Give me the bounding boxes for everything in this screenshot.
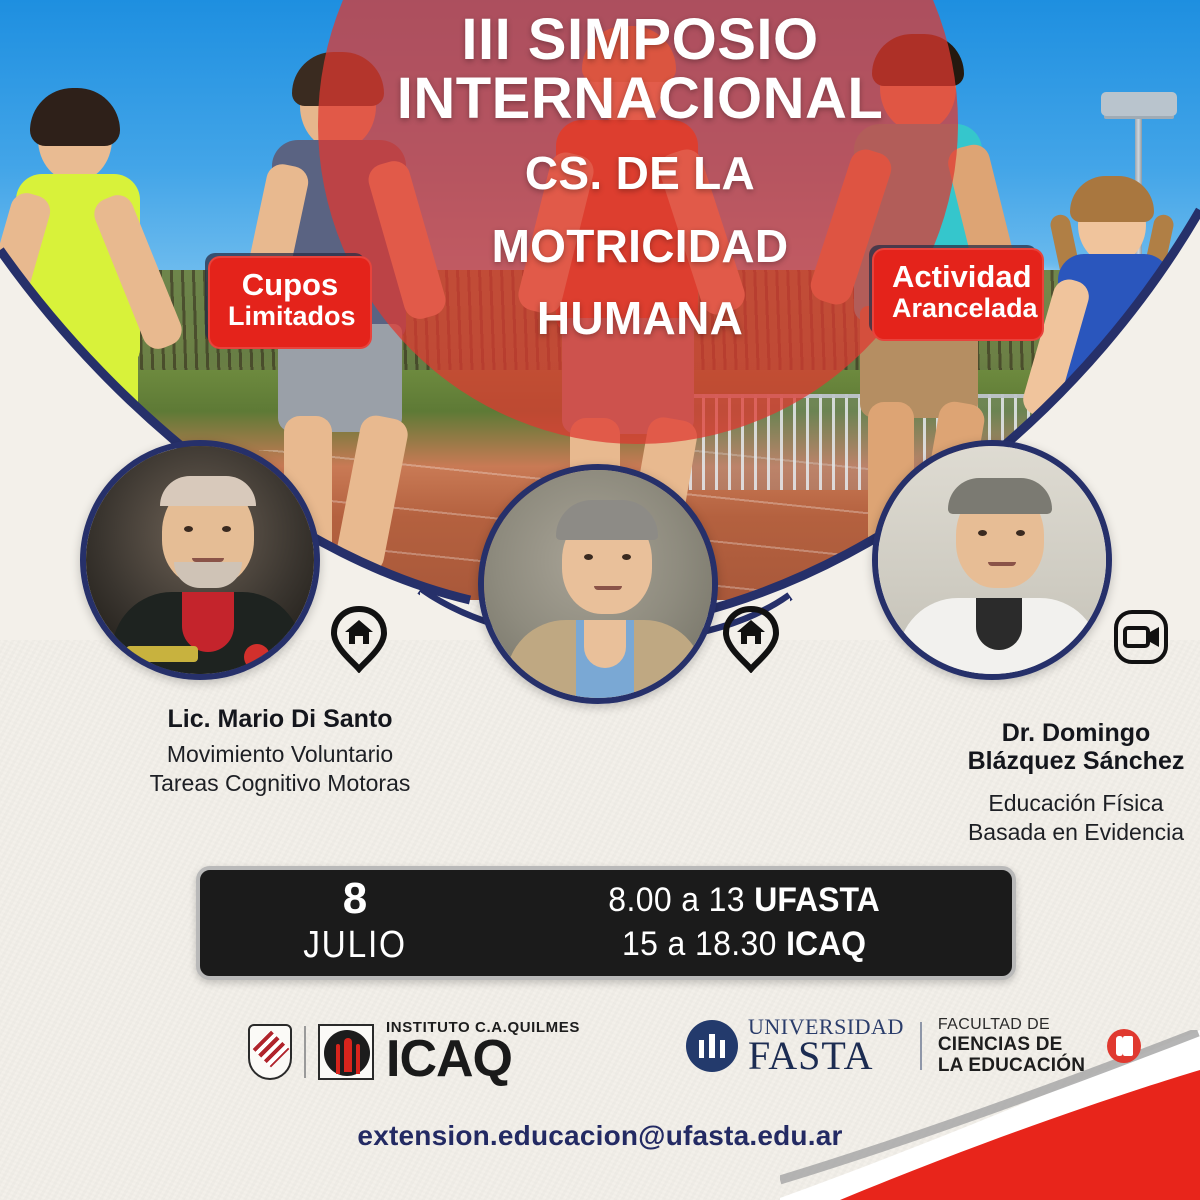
speaker-3-photo: [872, 440, 1112, 680]
speaker-2-role-line-2: Basada en Evidencia: [856, 818, 1200, 847]
sessions-block: 8.00 a 13 UFASTA 15 a 18.30 ICAQ: [510, 879, 1012, 966]
date-time-bar: 8 JULIO 8.00 a 13 UFASTA 15 a 18.30 ICAQ: [196, 866, 1016, 980]
contact-email[interactable]: extension.educacion@ufasta.edu.ar: [0, 1120, 1200, 1152]
speaker-2-role: Educación Física Basada en Evidencia: [856, 789, 1200, 848]
icaq-logo: INSTITUTO C.A.QUILMES ICAQ: [248, 1020, 580, 1085]
icaq-acronym: ICAQ: [386, 1035, 580, 1085]
event-poster: III SIMPOSIO INTERNACIONAL CS. DE LA MOT…: [0, 0, 1200, 1200]
sponsor-logos: INSTITUTO C.A.QUILMES ICAQ UNIVERSIDAD F…: [0, 1014, 1200, 1110]
badge-right-line-1: Actividad: [892, 260, 1024, 293]
speaker-3: Dr. Albert Batalla Flores Cuerpo, Movimi…: [872, 440, 1112, 680]
speakers-section: Lic. Mario Di Santo Movimiento Voluntari…: [0, 430, 1200, 850]
educacion-emblem-icon: [1107, 1029, 1141, 1063]
session-1-time: 8.00 a 13: [608, 881, 745, 919]
badge-left-line-2: Limitados: [228, 301, 352, 332]
badge-actividad-arancelada: Actividad Arancelada: [872, 248, 1044, 341]
speaker-1-role-line-1: Movimiento Voluntario: [60, 740, 500, 769]
date-month: JULIO: [219, 923, 492, 969]
speaker-2-name: Dr. Domingo Blázquez Sánchez: [856, 719, 1200, 775]
session-1: 8.00 a 13 UFASTA: [524, 879, 964, 923]
home-pin-icon: [330, 605, 388, 678]
date-block: 8 JULIO: [200, 877, 510, 969]
session-1-venue: UFASTA: [754, 881, 879, 919]
badge-left-line-1: Cupos: [228, 268, 352, 301]
logo-divider: [304, 1026, 306, 1078]
speaker-2-name-line-2: Blázquez Sánchez: [856, 747, 1200, 775]
title-line-1: III SIMPOSIO: [300, 10, 980, 69]
speaker-1-photo: [80, 440, 320, 680]
speaker-2: Dr. Domingo Blázquez Sánchez Educación F…: [478, 464, 718, 704]
session-2-time: 15 a 18.30: [622, 925, 777, 963]
icaq-wordmark: INSTITUTO C.A.QUILMES ICAQ: [386, 1020, 580, 1085]
title-line-3: CS. DE LA: [300, 146, 980, 200]
ufasta-logo: UNIVERSIDAD FASTA FACULTAD DE CIENCIAS D…: [686, 1016, 1141, 1076]
speaker-2-role-line-1: Educación Física: [856, 789, 1200, 818]
quilmes-shield-icon: [248, 1024, 292, 1080]
educacion-label: LA EDUCACIÓN: [938, 1055, 1085, 1076]
speaker-2-photo: [478, 464, 718, 704]
speaker-1-role-line-2: Tareas Cognitivo Motoras: [60, 769, 500, 798]
session-2-venue: ICAQ: [786, 925, 866, 963]
date-day: 8: [200, 877, 510, 921]
speaker-2-name-line-1: Dr. Domingo: [856, 719, 1200, 747]
session-2: 15 a 18.30 ICAQ: [524, 923, 964, 967]
home-pin-icon: [722, 605, 780, 678]
vitruvian-man-icon: [318, 1024, 374, 1080]
fasta-emblem-icon: [686, 1020, 738, 1072]
facultad-label: FACULTAD DE: [938, 1016, 1085, 1034]
badge-cupos-limitados: Cupos Limitados: [208, 256, 372, 349]
video-camera-icon: [1112, 608, 1170, 671]
title-line-2: INTERNACIONAL: [300, 69, 980, 128]
fasta-wordmark: UNIVERSIDAD FASTA: [748, 1017, 904, 1075]
fasta-name: FASTA: [748, 1037, 904, 1075]
speaker-1-role: Movimiento Voluntario Tareas Cognitivo M…: [60, 740, 500, 799]
ciencias-label: CIENCIAS DE: [938, 1034, 1085, 1055]
fasta-divider: [920, 1022, 922, 1070]
speaker-1: Lic. Mario Di Santo Movimiento Voluntari…: [80, 440, 320, 680]
facultad-text: FACULTAD DE CIENCIAS DE LA EDUCACIÓN: [938, 1016, 1085, 1076]
badge-right-line-2: Arancelada: [892, 293, 1024, 324]
speaker-1-name: Lic. Mario Di Santo: [60, 705, 500, 733]
